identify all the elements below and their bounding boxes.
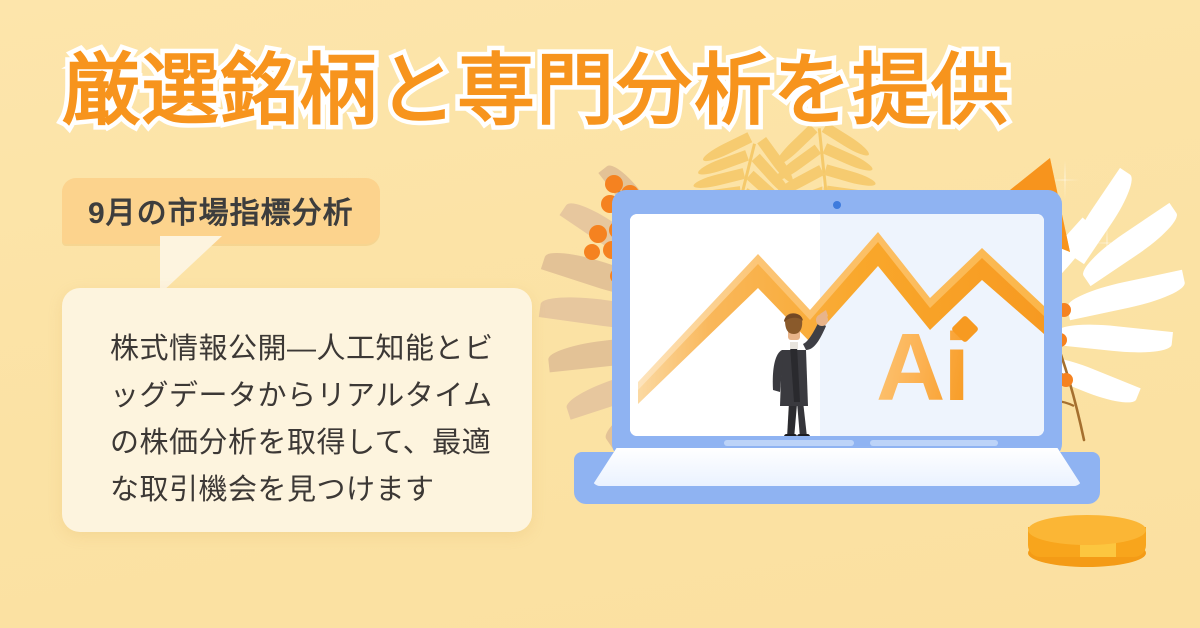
laptop-keyboard-deck xyxy=(592,448,1082,486)
webcam-icon xyxy=(833,201,841,209)
frond-blade xyxy=(692,168,745,191)
gold-coin-icon xyxy=(1028,515,1146,567)
stock-chart-line xyxy=(630,214,1044,436)
businessman-figure xyxy=(756,306,830,436)
frond-blade xyxy=(696,150,749,178)
frond-blade xyxy=(701,132,753,165)
laptop-illustration: Ai xyxy=(612,190,1062,510)
promo-banner: Ai xyxy=(0,0,1200,628)
frond-blade xyxy=(823,143,875,174)
page-title: 厳選銘柄と専門分析を提供 xyxy=(62,48,1010,132)
subtitle-badge: 9月の市場指標分析 xyxy=(62,178,380,244)
frond-blade xyxy=(757,137,796,186)
laptop-hinge-left xyxy=(724,440,854,446)
speech-bubble-tail xyxy=(160,236,222,294)
laptop-screen: Ai xyxy=(630,214,1044,436)
description-text: 株式情報公開—人工知能とビッグデータからリアルタイムの株価分析を取得して、最適な… xyxy=(110,326,510,514)
coin-top-face xyxy=(1028,515,1146,545)
ai-logo-text: Ai xyxy=(876,320,968,416)
laptop-hinge-right xyxy=(870,440,998,446)
description-card: 株式情報公開—人工知能とビッグデータからリアルタイムの株価分析を取得して、最適な… xyxy=(62,288,532,532)
laptop-lid: Ai xyxy=(612,190,1062,458)
